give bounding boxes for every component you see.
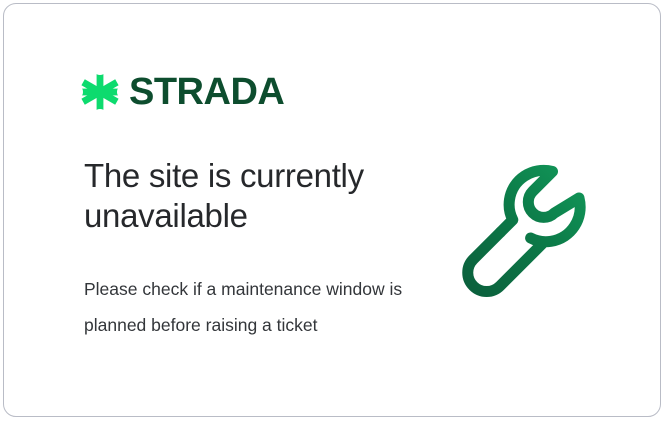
brand-wordmark: STRADA: [129, 73, 284, 111]
page-title: The site is currently unavailable: [84, 156, 414, 237]
wrench-icon: [459, 156, 619, 316]
strada-asterisk-mark-icon: [80, 72, 120, 112]
message-card: STRADA The site is currently unavailable…: [3, 3, 661, 417]
error-page: STRADA The site is currently unavailable…: [0, 0, 666, 436]
brand-logo: STRADA: [80, 72, 284, 112]
page-description: Please check if a maintenance window is …: [84, 272, 404, 344]
